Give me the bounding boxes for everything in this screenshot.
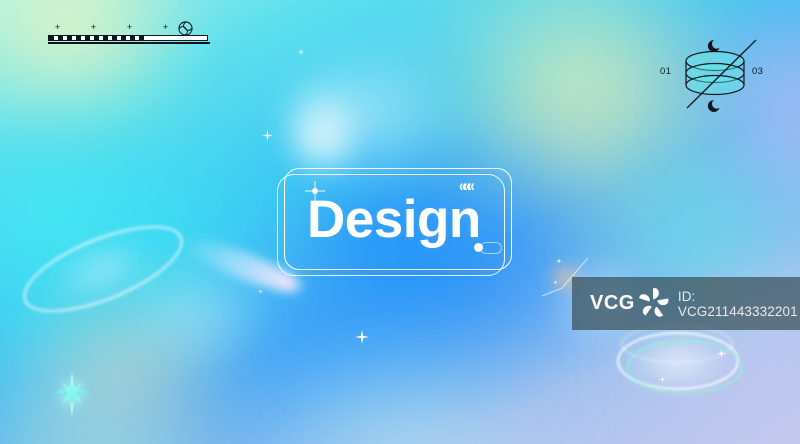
ruler-bar-solid-fill (145, 36, 207, 40)
vcg-watermark: VCG ID: VCG211443332201 (572, 277, 800, 330)
plus-mark-icon (90, 24, 97, 31)
eight-point-star-icon (50, 368, 94, 420)
glowing-ring-icon (617, 332, 742, 392)
coil-label-left: 01 (660, 66, 671, 77)
design-plate[interactable]: Design ««« (277, 168, 513, 278)
filled-dot-icon (474, 243, 483, 252)
vcg-petal-burst-icon (637, 287, 670, 320)
chevrons-icon: ««« (459, 176, 472, 195)
vcg-id-label: ID: VCG211443332201 (678, 289, 800, 319)
coil-decoration: 01 03 (660, 28, 770, 118)
pill-outline-icon (480, 242, 502, 254)
ruler-bar-dashed-fill (49, 36, 145, 40)
vcg-brand-text: VCG (590, 292, 635, 315)
poster-canvas: 01 03 Design ««« VCG (0, 0, 800, 444)
swirl-globe-icon (178, 21, 193, 36)
coil-label-right: 03 (752, 66, 763, 77)
ruler-underline (48, 42, 210, 44)
plus-mark-icon (54, 24, 61, 31)
plus-mark-icon (126, 24, 133, 31)
plus-mark-icon (162, 24, 169, 31)
